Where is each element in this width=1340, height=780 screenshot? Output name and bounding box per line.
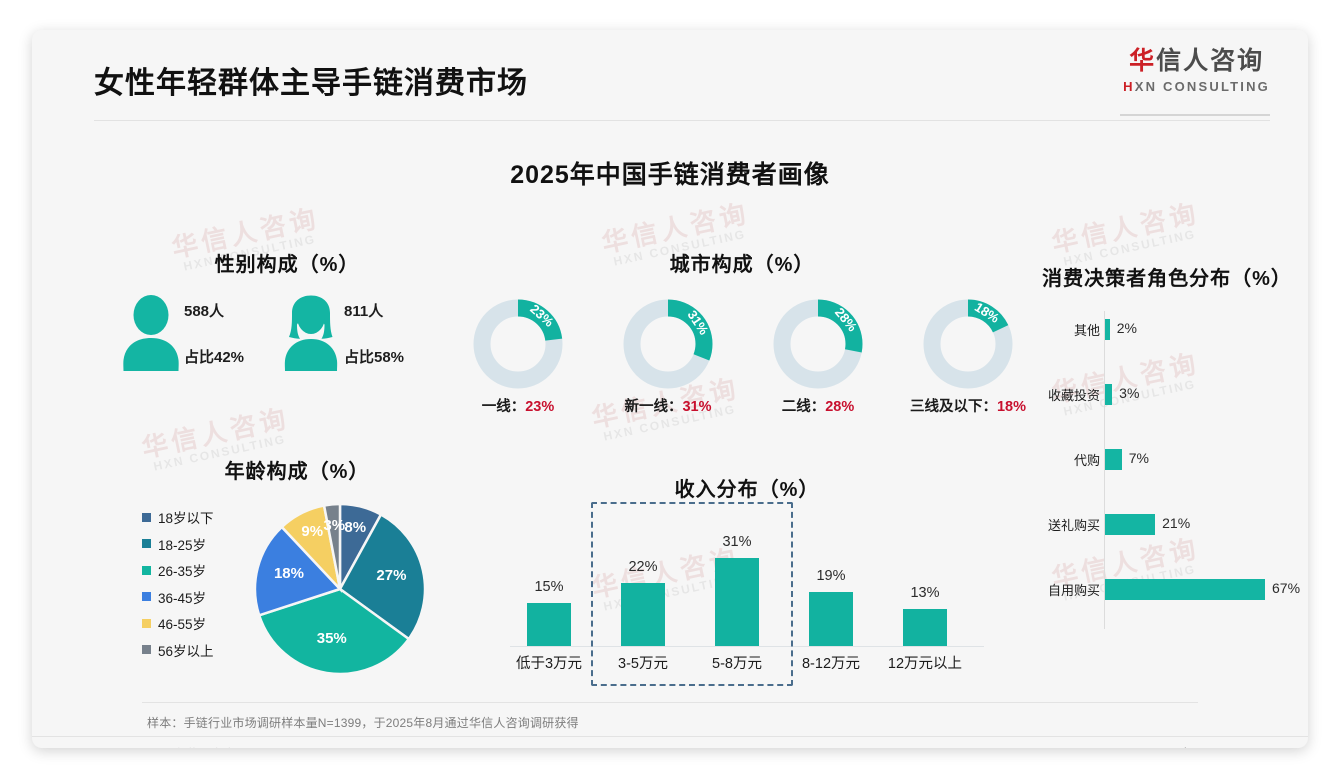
- pie-legend-item[interactable]: 18-25岁: [142, 531, 247, 558]
- section-title-role: 消费决策者角色分布（%）: [1032, 262, 1302, 291]
- watermark: 华信人咨询 HXN CONSULTING: [1049, 200, 1204, 270]
- section-title-income: 收入分布（%）: [502, 473, 992, 502]
- section-title-gender: 性别构成（%）: [122, 248, 452, 277]
- header: 女性年轻群体主导手链消费市场 华信人咨询 HXN CONSULTING: [32, 30, 1308, 120]
- legend-label: 36-45岁: [158, 587, 206, 607]
- website-text: www.hxrcon.com: [1155, 745, 1246, 748]
- pie-legend-item[interactable]: 18岁以下: [142, 504, 247, 531]
- gender-female-text: 811人 占比58%: [344, 300, 404, 367]
- logo-cn-text: 华信人咨询: [1123, 48, 1270, 76]
- income-highlight-box: [591, 502, 793, 686]
- pie-slice-label: 18%: [267, 565, 311, 582]
- income-bar[interactable]: [903, 609, 947, 646]
- donut-caption-text: 新一线：: [624, 399, 682, 415]
- logo-en-text: HXN CONSULTING: [1123, 79, 1270, 94]
- role-value-label: 3%: [1119, 385, 1139, 401]
- donut-caption-text: 一线：: [482, 399, 526, 415]
- role-category-label: 自用购买: [980, 580, 1100, 599]
- role-bar[interactable]: [1105, 319, 1110, 340]
- legend-label: 46-55岁: [158, 613, 206, 633]
- legend-label: 18岁以下: [158, 507, 214, 527]
- gender-item-female: 811人 占比58%: [282, 295, 442, 375]
- pie-legend-item[interactable]: 36-45岁: [142, 584, 247, 611]
- legend-swatch-icon: [142, 513, 151, 522]
- logo-en-accent: H: [1123, 79, 1135, 94]
- donut-caption-value: 23%: [525, 399, 554, 415]
- role-row[interactable]: 代购7%: [1042, 447, 1297, 473]
- donut-1: 23%一线：23%: [472, 298, 564, 390]
- gender-item-male: 588人 占比42%: [122, 295, 282, 375]
- logo-en-rest: XN CONSULTING: [1135, 79, 1270, 94]
- gender-male-share: 占比42%: [184, 346, 244, 367]
- chart-subtitle: 2025年中国手链消费者画像: [32, 155, 1308, 191]
- legend-label: 26-35岁: [158, 560, 206, 580]
- pie-slice-label: 27%: [369, 567, 413, 584]
- page-title: 女性年轻群体主导手链消费市场: [94, 58, 528, 102]
- legend-label: 18-25岁: [158, 534, 206, 554]
- legend-swatch-icon: [142, 645, 151, 654]
- donut-3: 28%二线：28%: [772, 298, 864, 390]
- age-pie-chart: 18岁以下18-25岁26-35岁36-45岁46-55岁56岁以上 8%27%…: [142, 500, 452, 680]
- pie-slice-label: 3%: [312, 517, 356, 534]
- gender-female-count: 811人: [344, 300, 404, 321]
- income-bar[interactable]: [809, 592, 853, 646]
- age-pie-graphic: 8%27%35%18%9%3%: [250, 499, 430, 684]
- gender-female-share: 占比58%: [344, 346, 404, 367]
- footer-divider: [32, 736, 1308, 737]
- role-category-label: 收藏投资: [980, 385, 1100, 404]
- donut-caption-value: 28%: [825, 399, 854, 415]
- city-donut-group: 23%一线：23%31%新一线：31%28%二线：28%18%三线及以下：18%: [472, 298, 1012, 408]
- donut-2: 31%新一线：31%: [622, 298, 714, 390]
- income-bar-value: 15%: [509, 579, 589, 595]
- logo-divider: [1120, 114, 1270, 116]
- role-row[interactable]: 自用购买67%: [1042, 577, 1297, 603]
- legend-label: 56岁以上: [158, 640, 214, 660]
- role-value-label: 2%: [1117, 320, 1137, 336]
- section-title-city: 城市构成（%）: [472, 248, 1012, 277]
- pie-legend-item[interactable]: 56岁以上: [142, 637, 247, 664]
- logo-accent-char: 华: [1129, 47, 1156, 75]
- watermark-cn: 华信人咨询: [1049, 200, 1201, 258]
- income-bar-chart: 15%低于3万元22%3-5万元31%5-8万元19%8-12万元13%12万元…: [502, 510, 992, 685]
- role-bar[interactable]: [1105, 514, 1155, 535]
- donut-caption-text: 二线：: [782, 399, 826, 415]
- legend-swatch-icon: [142, 539, 151, 548]
- donut-caption-value: 31%: [682, 399, 711, 415]
- role-row[interactable]: 其他2%: [1042, 317, 1297, 343]
- role-row[interactable]: 送礼购买21%: [1042, 512, 1297, 538]
- income-bar-value: 19%: [791, 568, 871, 584]
- role-bar[interactable]: [1105, 579, 1265, 600]
- sample-note: 样本：手链行业市场调研样本量N=1399，于2025年8月通过华信人咨询调研获得: [147, 714, 579, 731]
- brand-logo: 华信人咨询 HXN CONSULTING: [1123, 48, 1270, 94]
- copyright-text: ©2025.10 HXR华信人咨询: [94, 745, 235, 748]
- section-title-age: 年龄构成（%）: [142, 455, 452, 484]
- income-bar-value: 13%: [885, 585, 965, 601]
- role-bar-chart: 其他2%收藏投资3%代购7%送礼购买21%自用购买67%: [1042, 305, 1297, 635]
- logo-rest-chars: 信人咨询: [1156, 47, 1264, 75]
- pie-slice-label: 35%: [310, 630, 354, 647]
- legend-swatch-icon: [142, 592, 151, 601]
- role-value-label: 21%: [1162, 515, 1190, 531]
- role-category-label: 送礼购买: [980, 515, 1100, 534]
- donut-caption: 新一线：31%: [583, 395, 753, 416]
- role-category-label: 其他: [980, 320, 1100, 339]
- role-value-label: 67%: [1272, 580, 1300, 596]
- role-row[interactable]: 收藏投资3%: [1042, 382, 1297, 408]
- male-icon: [122, 295, 180, 371]
- donut-caption: 一线：23%: [433, 395, 603, 416]
- income-bar[interactable]: [527, 603, 571, 646]
- gender-composition: 588人 占比42% 811人 占比58%: [122, 295, 452, 375]
- legend-swatch-icon: [142, 566, 151, 575]
- role-value-label: 7%: [1129, 450, 1149, 466]
- female-icon: [282, 295, 340, 371]
- income-category-label: 12万元以上: [870, 652, 980, 673]
- legend-swatch-icon: [142, 619, 151, 628]
- gender-male-text: 588人 占比42%: [184, 300, 244, 367]
- pie-legend-item[interactable]: 46-55岁: [142, 610, 247, 637]
- age-pie-legend: 18岁以下18-25岁26-35岁36-45岁46-55岁56岁以上: [142, 504, 247, 663]
- header-divider: [94, 120, 1270, 121]
- role-bar[interactable]: [1105, 384, 1112, 405]
- gender-male-count: 588人: [184, 300, 244, 321]
- infographic-card: 华信人咨询 HXN CONSULTING 华信人咨询 HXN CONSULTIN…: [32, 30, 1308, 748]
- pie-legend-item[interactable]: 26-35岁: [142, 557, 247, 584]
- role-category-label: 代购: [980, 450, 1100, 469]
- donut-4: 18%三线及以下：18%: [922, 298, 1014, 390]
- donut-caption: 二线：28%: [733, 395, 903, 416]
- role-bar[interactable]: [1105, 449, 1122, 470]
- note-divider: [142, 702, 1198, 703]
